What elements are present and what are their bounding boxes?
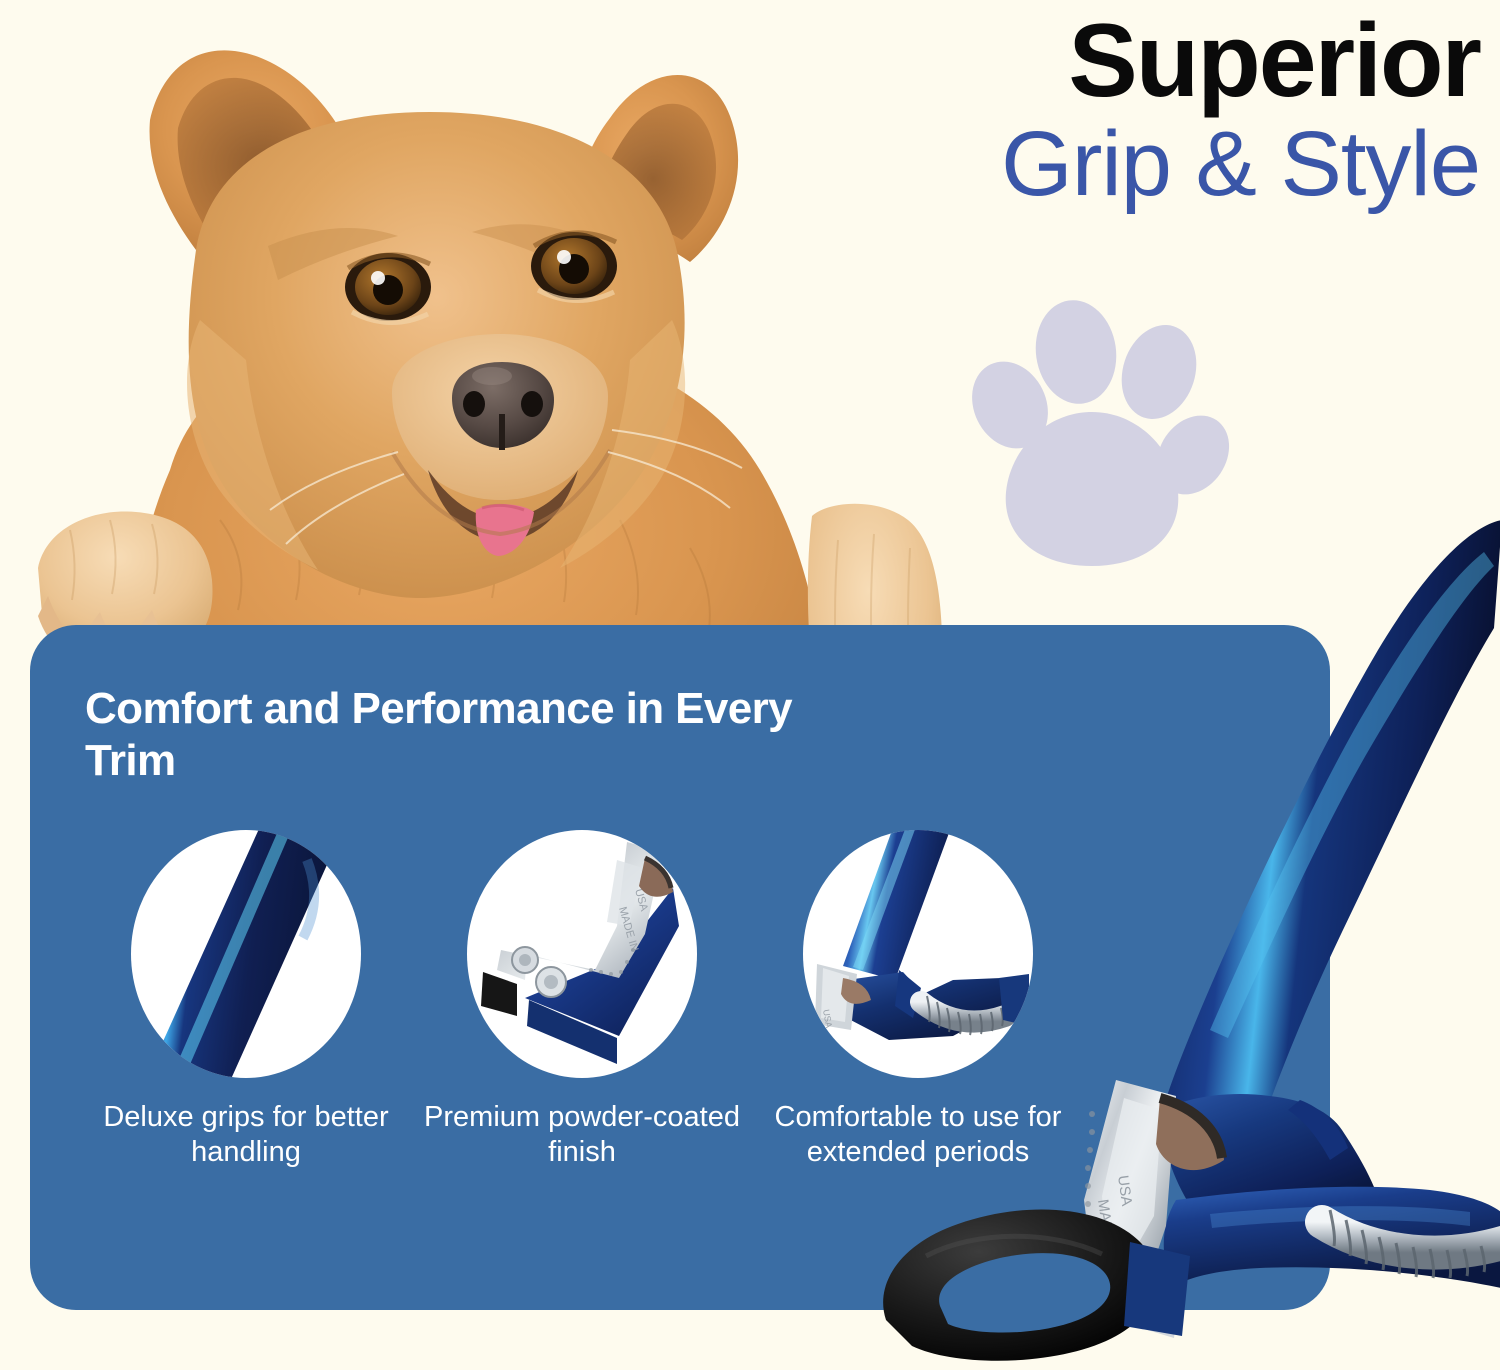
feature-caption-powder-coated: Premium powder-coated finish xyxy=(414,1100,750,1171)
card-heading: Comfort and Performance in Every Trim xyxy=(85,683,845,787)
product-photo-clipper: MADE IN USA xyxy=(830,500,1500,1370)
product-marketing-image: Superior Grip & Style Comfort and Perfor… xyxy=(0,0,1500,1370)
feature-image-powder-coated: MADE IN USA xyxy=(467,830,697,1078)
headline-line-1: Superior xyxy=(860,8,1480,114)
headline-line-2: Grip & Style xyxy=(860,116,1480,213)
feature-caption-deluxe-grips: Deluxe grips for better handling xyxy=(78,1100,414,1171)
rubber-grip-loop xyxy=(883,1209,1157,1360)
feature-item-deluxe-grips: Deluxe grips for better handling xyxy=(78,830,414,1171)
headline-block: Superior Grip & Style xyxy=(860,8,1480,213)
feature-item-powder-coated: MADE IN USA xyxy=(414,830,750,1171)
feature-image-deluxe-grips xyxy=(131,830,361,1078)
